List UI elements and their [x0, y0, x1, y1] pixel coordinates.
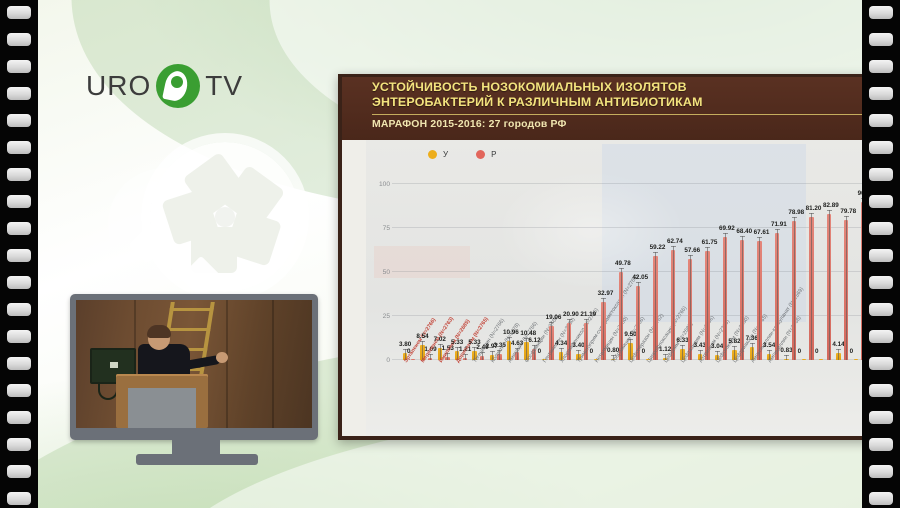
- bar-value-label: 21.19: [580, 311, 596, 318]
- filmstrip-sprocket: [869, 492, 893, 505]
- filmstrip-sprocket: [869, 303, 893, 316]
- y-axis-tick-label: 50: [368, 269, 390, 276]
- slide-title: УСТОЙЧИВОСТЬ НОЗОКОМИАЛЬНЫХ ИЗОЛЯТОВ ЭНТ…: [372, 80, 862, 110]
- podium: [116, 374, 208, 428]
- logo-text-uro: URO: [86, 70, 151, 102]
- bar-value-label: 3.43: [694, 342, 706, 349]
- bar-value-label: 19.06: [546, 314, 562, 321]
- bar-value-label: 0: [538, 348, 542, 355]
- bar-value-label: 0: [590, 348, 594, 355]
- bar-value-label: 3.40: [572, 342, 584, 349]
- bar-value-label: 6.33: [676, 337, 688, 344]
- bar-value-label: 10.48: [520, 330, 536, 337]
- bar-value-label: 59.22: [650, 244, 666, 251]
- filmstrip-sprocket: [7, 141, 31, 154]
- bar-value-label: 62.74: [667, 238, 683, 245]
- bar-value-label: 90.05: [858, 190, 862, 197]
- filmstrip-sprocket: [7, 60, 31, 73]
- lecture-hall-photo: [76, 300, 312, 428]
- slide-title-line2: ЭНТЕРОБАКТЕРИЙ К РАЗЛИЧНЫМ АНТИБИОТИКАМ: [372, 95, 862, 110]
- filmstrip-sprocket: [869, 330, 893, 343]
- bar-value-label: 69.92: [719, 225, 735, 232]
- filmstrip-sprocket: [869, 465, 893, 478]
- y-axis-tick-label: 25: [368, 313, 390, 320]
- filmstrip-sprocket: [869, 195, 893, 208]
- x-axis-tick-label: Ампициллин (N=2766): [767, 315, 803, 364]
- logo-text-tv: TV: [205, 70, 243, 102]
- bar-value-label: 71.91: [771, 221, 787, 228]
- slide-title-rule: [372, 114, 862, 115]
- filmstrip-sprocket: [7, 330, 31, 343]
- slide-header: УСТОЙЧИВОСТЬ НОЗОКОМИАЛЬНЫХ ИЗОЛЯТОВ ЭНТ…: [342, 77, 862, 140]
- filmstrip-sprocket: [7, 465, 31, 478]
- filmstrip-sprocket: [869, 87, 893, 100]
- slide-surface: УСТОЙЧИВОСТЬ НОЗОКОМИАЛЬНЫХ ИЗОЛЯТОВ ЭНТ…: [342, 77, 862, 436]
- filmstrip-sprocket: [869, 168, 893, 181]
- filmstrip-left: [0, 0, 38, 508]
- filmstrip-sprocket: [7, 6, 31, 19]
- bar-value-label: 42.05: [632, 274, 648, 281]
- bar-value-label: 0: [850, 348, 854, 355]
- error-bar: [786, 355, 787, 360]
- filmstrip-sprocket: [869, 33, 893, 46]
- bar-value-label: 3.54: [763, 342, 775, 349]
- filmstrip-sprocket: [869, 411, 893, 424]
- chart-area: 0255075100 УР 3.800Эртапенем (N=2766)8.5…: [366, 140, 862, 436]
- bar-value-label: 5.82: [728, 338, 740, 345]
- bar-value-label: 10.96: [503, 329, 519, 336]
- bar-value-label: 0: [642, 348, 646, 355]
- speaker-hand: [216, 352, 228, 363]
- bar-value-label: 61.75: [702, 239, 718, 246]
- bar-value-label: 67.61: [754, 229, 770, 236]
- error-bar: [846, 216, 847, 360]
- bar-value-label: 0: [798, 348, 802, 355]
- bar-value-label: 82.89: [823, 202, 839, 209]
- uro-tv-emblem-icon: [156, 64, 200, 108]
- filmstrip-sprocket: [869, 357, 893, 370]
- bar-r: [861, 202, 862, 360]
- filmstrip-sprocket: [869, 438, 893, 451]
- filmstrip-sprocket: [7, 357, 31, 370]
- error-bar: [794, 217, 795, 360]
- bar-value-label: 0.83: [780, 347, 792, 354]
- error-bar: [742, 236, 743, 360]
- y-axis-tick-label: 100: [368, 181, 390, 188]
- error-bar: [707, 247, 708, 360]
- error-bar: [759, 237, 760, 360]
- video-page: URO TV: [0, 0, 900, 508]
- filmstrip-sprocket: [7, 114, 31, 127]
- error-bar: [829, 210, 830, 360]
- error-bar: [777, 229, 778, 360]
- bar-value-label: 49.78: [615, 260, 631, 267]
- bar-value-label: 79.78: [840, 208, 856, 215]
- bar-y: [802, 359, 806, 360]
- filmstrip-sprocket: [7, 303, 31, 316]
- page-content: URO TV: [38, 0, 862, 508]
- filmstrip-sprocket: [869, 276, 893, 289]
- filmstrip-sprocket: [7, 492, 31, 505]
- bar-value-label: 78.98: [788, 209, 804, 216]
- error-bar: [838, 349, 839, 360]
- filmstrip-sprocket: [869, 249, 893, 262]
- filmstrip-sprocket: [7, 33, 31, 46]
- video-thumbnail-monitor[interactable]: [70, 294, 318, 440]
- film-reel-icon: [150, 142, 300, 292]
- presentation-slide[interactable]: УСТОЙЧИВОСТЬ НОЗОКОМИАЛЬНЫХ ИЗОЛЯТОВ ЭНТ…: [338, 74, 862, 440]
- bar-value-label: 32.97: [598, 290, 614, 297]
- filmstrip-sprocket: [869, 141, 893, 154]
- filmstrip-sprocket: [869, 6, 893, 19]
- monitor-stand-neck: [172, 440, 220, 454]
- bar-value-label: 8.54: [416, 333, 428, 340]
- filmstrip-right: [862, 0, 900, 508]
- bar-value-label: 4.14: [832, 341, 844, 348]
- filmstrip-sprocket: [7, 168, 31, 181]
- filmstrip-sprocket: [7, 249, 31, 262]
- bar-y: [819, 359, 823, 360]
- slide-title-line1: УСТОЙЧИВОСТЬ НОЗОКОМИАЛЬНЫХ ИЗОЛЯТОВ: [372, 80, 862, 95]
- logo[interactable]: URO TV: [86, 64, 243, 108]
- bar-value-label: 20.90: [563, 311, 579, 318]
- bar-value-label: 0: [815, 348, 819, 355]
- bar-value-label: 3.04: [711, 343, 723, 350]
- filmstrip-sprocket: [869, 222, 893, 235]
- video-thumbnail-screen[interactable]: [76, 300, 312, 428]
- bar-value-label: 57.66: [684, 247, 700, 254]
- filmstrip-sprocket: [7, 195, 31, 208]
- chart-bars: 3.800Эртапенем (N=2766)8.541.09Меропенем…: [394, 140, 862, 436]
- error-bar: [811, 213, 812, 360]
- speaker-hair: [147, 325, 171, 338]
- filmstrip-sprocket: [7, 411, 31, 424]
- monitor-stand-base: [136, 454, 258, 465]
- filmstrip-sprocket: [7, 276, 31, 289]
- filmstrip-sprocket: [7, 438, 31, 451]
- y-axis-tick-label: 0: [368, 357, 390, 364]
- bar-value-label: 7.02: [434, 336, 446, 343]
- error-bar: [725, 233, 726, 360]
- filmstrip-sprocket: [869, 384, 893, 397]
- bar-value-label: 5.33: [451, 339, 463, 346]
- bar-value-label: 68.40: [736, 228, 752, 235]
- filmstrip-sprocket: [869, 114, 893, 127]
- y-axis-tick-label: 75: [368, 225, 390, 232]
- bar-value-label: 4.34: [555, 340, 567, 347]
- bar-value-label: 81.20: [806, 205, 822, 212]
- bar-value-label: 7.36: [746, 335, 758, 342]
- bar-y: [854, 359, 858, 360]
- filmstrip-sprocket: [7, 222, 31, 235]
- filmstrip-sprocket: [7, 87, 31, 100]
- slide-subtitle: МАРАФОН 2015-2016: 27 городов РФ: [372, 119, 567, 130]
- filmstrip-sprocket: [869, 60, 893, 73]
- filmstrip-sprocket: [7, 384, 31, 397]
- bar-value-label: 9.50: [624, 331, 636, 338]
